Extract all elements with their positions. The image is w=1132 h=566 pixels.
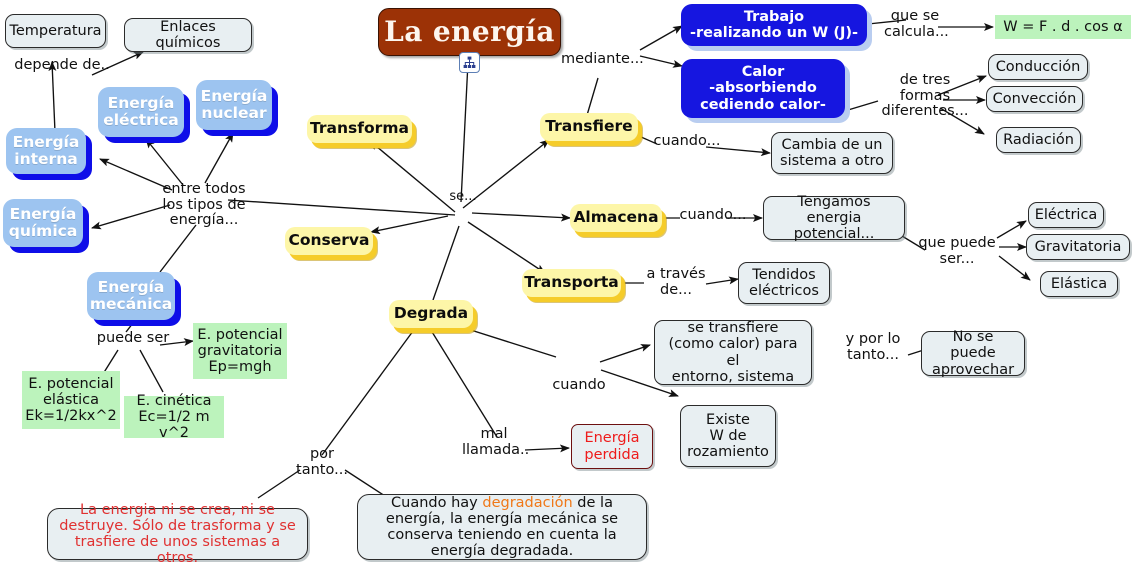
label-y-por-lo-tanto: y por lo tanto... [837, 332, 909, 363]
label-cuando-degrada: cuando [548, 378, 610, 394]
node-almacena[interactable]: Almacena [570, 204, 662, 232]
node-ep-elastica: E. potencial elástica Ek=1/2kx^2 [22, 371, 120, 429]
node-tipo-elastica[interactable]: Elástica [1040, 271, 1118, 297]
node-transfiere[interactable]: Transfiere [540, 113, 638, 141]
statement-degradacion-text: Cuando hay degradación de la energía, la… [367, 495, 637, 560]
node-energia-nuclear[interactable]: Energía nuclear [196, 80, 272, 130]
node-energia-electrica[interactable]: Energía eléctrica [98, 87, 184, 137]
node-e-cinetica: E. cinética Ec=1/2 m v^2 [124, 396, 224, 438]
highlight-degradacion: degradación [482, 495, 572, 511]
node-energia-perdida[interactable]: Energía perdida [571, 424, 653, 469]
node-tipo-electrica[interactable]: Eléctrica [1028, 202, 1104, 228]
node-radiacion[interactable]: Radiación [996, 127, 1081, 153]
label-mal-llamada: mal llamada.. [462, 427, 526, 458]
node-se-transfiere[interactable]: se transfiere (como calor) para el entor… [654, 320, 812, 385]
label-entre-todos: entre todos los tipos de energía... [150, 182, 258, 229]
label-cuando-transfiere: cuando... [652, 134, 722, 150]
node-tipo-gravitatoria[interactable]: Gravitatoria [1026, 234, 1130, 260]
node-conduccion[interactable]: Conducción [988, 54, 1088, 80]
label-que-se-calcula: que se calcula... [884, 9, 946, 40]
node-calor[interactable]: Calor -absorbiendo cediendo calor- [681, 59, 845, 118]
node-formula-trabajo: W = F . d . cos α [995, 15, 1131, 39]
label-por-tanto: por tanto... [282, 447, 362, 478]
node-tendidos-electricos[interactable]: Tendidos eléctricos [738, 262, 830, 304]
node-energia-potencial[interactable]: Tengamos energia potencial... [763, 196, 905, 240]
hierarchy-tree-icon [459, 52, 480, 73]
label-a-traves-de: a través de... [645, 267, 707, 298]
node-transporta[interactable]: Transporta [522, 269, 621, 297]
node-ep-gravitatoria: E. potencial gravitatoria Ep=mgh [193, 323, 287, 379]
node-conserva[interactable]: Conserva [285, 227, 373, 255]
statement-conservacion[interactable]: La energia ni se crea, ni se destruye. S… [47, 508, 308, 560]
label-que-puede-ser: que puede ser... [917, 236, 997, 267]
label-mediante: mediante... [561, 52, 641, 68]
map-title: La energía [378, 8, 561, 56]
node-existe-w-rozamiento[interactable]: Existe W de rozamiento [680, 405, 776, 467]
node-enlaces-quimicos[interactable]: Enlaces químicos [124, 18, 252, 52]
node-temperatura[interactable]: Temperatura [5, 14, 106, 48]
node-conveccion[interactable]: Convección [986, 86, 1083, 112]
label-cuando-almacena: cuando... [678, 208, 748, 224]
node-transforma[interactable]: Transforma [307, 115, 412, 143]
node-no-se-puede-aprovechar[interactable]: No se puede aprovechar [921, 331, 1025, 376]
node-degrada[interactable]: Degrada [389, 300, 473, 328]
node-energia-mecanica[interactable]: Energía mecánica [87, 272, 175, 320]
concept-map-canvas: La energía Temperatura Enlaces químicos … [0, 0, 1132, 565]
node-energia-interna[interactable]: Energía interna [6, 128, 86, 174]
label-depende-de: depende de.. [8, 58, 116, 74]
label-puede-ser: puede ser [91, 331, 175, 347]
node-energia-quimica[interactable]: Energía química [3, 199, 83, 247]
label-de-tres-formas: de tres formas diferentes... [874, 73, 976, 120]
statement-degradacion[interactable]: Cuando hay degradación de la energía, la… [357, 494, 647, 560]
label-hub-se: se... [440, 190, 486, 204]
node-trabajo[interactable]: Trabajo -realizando un W (J)- [681, 4, 867, 46]
node-cambia-sistema[interactable]: Cambia de un sistema a otro [771, 132, 893, 174]
